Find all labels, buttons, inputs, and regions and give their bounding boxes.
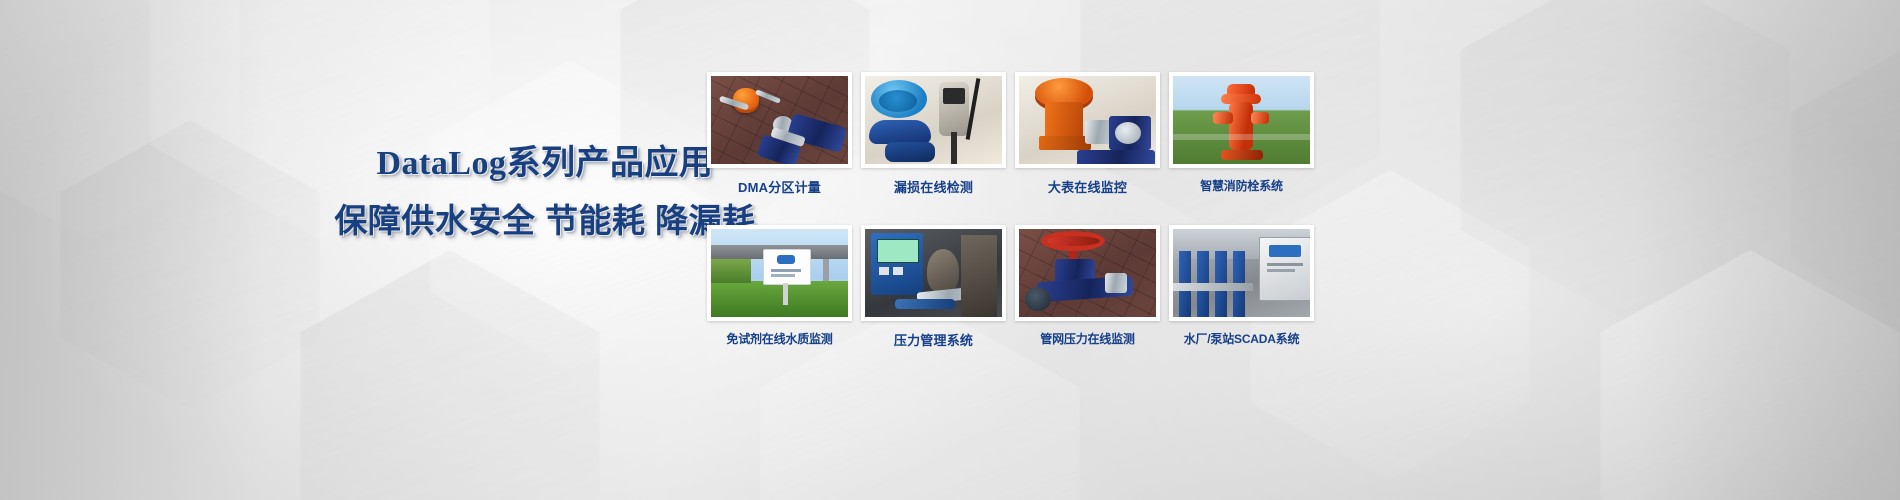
product-caption: 大表在线监控	[1015, 177, 1160, 196]
product-thumbnail[interactable]	[707, 225, 852, 321]
product-caption: DMA分区计量	[707, 177, 852, 196]
large-meter-monitor-image	[1019, 76, 1156, 164]
product-caption: 水厂/泵站SCADA系统	[1169, 330, 1314, 347]
product-caption: 智慧消防栓系统	[1169, 177, 1314, 194]
product-card-large-meter[interactable]: 大表在线监控	[1015, 72, 1160, 217]
headline-block: DataLog系列产品应用 保障供水安全 节能耗 降漏耗	[330, 142, 760, 243]
product-thumbnail[interactable]	[861, 72, 1006, 168]
product-caption: 管网压力在线监测	[1015, 330, 1160, 347]
product-thumbnail[interactable]	[1169, 225, 1314, 321]
headline-line-2: 保障供水安全 节能耗 降漏耗	[330, 199, 760, 243]
headline-line-1: DataLog系列产品应用	[330, 142, 760, 185]
product-application-banner: DataLog系列产品应用 保障供水安全 节能耗 降漏耗 DMA分区计量	[0, 0, 1900, 500]
product-card-scada[interactable]: 水厂/泵站SCADA系统	[1169, 225, 1314, 370]
product-caption: 压力管理系统	[861, 330, 1006, 349]
headline-latin: DataLog	[376, 145, 506, 182]
product-thumbnail[interactable]	[1169, 72, 1314, 168]
product-caption: 免试剂在线水质监测	[707, 330, 852, 347]
product-card-pressure-management[interactable]: 压力管理系统	[861, 225, 1006, 370]
dma-metering-chamber-image	[711, 76, 848, 164]
product-card-water-quality[interactable]: 免试剂在线水质监测	[707, 225, 852, 370]
product-card-leak-detection[interactable]: 漏损在线检测	[861, 72, 1006, 217]
headline-cjk: 系列产品应用	[507, 144, 714, 182]
product-thumbnail[interactable]	[1015, 225, 1160, 321]
product-card-dma-metering[interactable]: DMA分区计量	[707, 72, 852, 217]
product-thumbnail[interactable]	[861, 225, 1006, 321]
pressure-management-cabinet-image	[865, 229, 1002, 317]
product-thumbnail[interactable]	[1015, 72, 1160, 168]
waterworks-scada-image	[1173, 229, 1310, 317]
product-grid: DMA分区计量 漏损在线检测	[707, 72, 1314, 370]
product-card-pipe-pressure[interactable]: 管网压力在线监测	[1015, 225, 1160, 370]
product-thumbnail[interactable]	[707, 72, 852, 168]
product-card-smart-hydrant[interactable]: 智慧消防栓系统	[1169, 72, 1314, 217]
reagent-free-water-quality-image	[711, 229, 848, 317]
smart-fire-hydrant-image	[1173, 76, 1310, 164]
leak-detection-logger-image	[865, 76, 1002, 164]
pipe-network-pressure-image	[1019, 229, 1156, 317]
product-caption: 漏损在线检测	[861, 177, 1006, 196]
